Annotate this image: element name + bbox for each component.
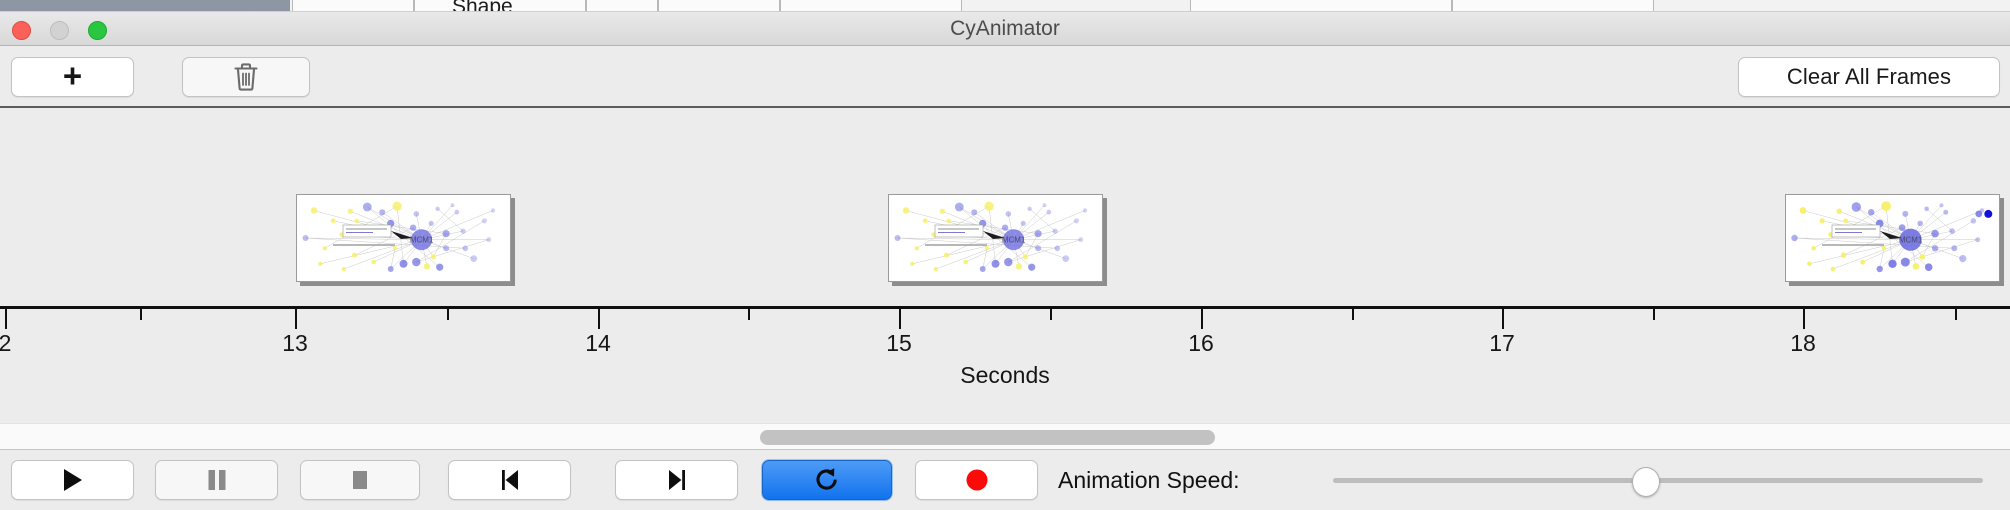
delete-frame-button[interactable]	[182, 57, 310, 97]
axis-tick	[1201, 309, 1203, 329]
animation-speed-label: Animation Speed:	[1058, 460, 1240, 500]
axis-tick	[1653, 309, 1655, 320]
frame-thumbnail[interactable]: MCM1	[1785, 194, 2000, 282]
record-button[interactable]	[915, 460, 1038, 500]
axis-tick	[1502, 309, 1504, 329]
axis-tick-label: 18	[1790, 330, 1816, 357]
stop-button[interactable]	[300, 460, 420, 500]
background-window-strip: Shape	[0, 0, 2010, 12]
network-graph: MCM1	[889, 195, 1102, 281]
pause-button[interactable]	[155, 460, 278, 500]
toolbar: + Clear All Frames	[0, 46, 2010, 108]
timeline-panel[interactable]: MCM1MCM1MCM1 2131415161718 Seconds	[0, 110, 2010, 423]
frame-thumbnail-image: MCM1	[1786, 195, 1999, 281]
frame-thumbnail[interactable]: MCM1	[296, 194, 511, 282]
play-icon	[60, 466, 86, 494]
axis-tick	[1955, 309, 1957, 320]
timeline-axis	[0, 306, 2010, 309]
axis-tick	[598, 309, 600, 329]
skip-to-end-button[interactable]	[615, 460, 738, 500]
title-bar: CyAnimator	[0, 12, 2010, 46]
cyanimator-window: Shape CyAnimator + Clear All Frames	[0, 0, 2010, 510]
clear-all-frames-button[interactable]: Clear All Frames	[1738, 57, 2000, 97]
add-frame-button[interactable]: +	[11, 57, 134, 97]
network-graph: MCM1	[297, 195, 510, 281]
axis-tick	[1050, 309, 1052, 320]
loop-icon	[813, 465, 841, 495]
skip-to-start-icon	[497, 466, 523, 494]
trash-icon	[233, 62, 259, 92]
skip-to-start-button[interactable]	[448, 460, 571, 500]
skip-to-end-icon	[664, 466, 690, 494]
axis-tick-label: 13	[282, 330, 308, 357]
svg-text:MCM1: MCM1	[1002, 236, 1026, 245]
frame-thumbnail[interactable]: MCM1	[888, 194, 1103, 282]
axis-tick	[295, 309, 297, 329]
slider-thumb[interactable]	[1632, 467, 1660, 497]
axis-tick	[140, 309, 142, 320]
timeline-scrollbar-thumb[interactable]	[760, 430, 1215, 445]
axis-tick	[5, 309, 7, 329]
network-graph: MCM1	[1786, 195, 1999, 281]
frame-thumbnail-image: MCM1	[297, 195, 510, 281]
axis-tick-label: 16	[1188, 330, 1214, 357]
axis-tick	[447, 309, 449, 320]
axis-tick-label: 15	[886, 330, 912, 357]
loop-button[interactable]	[762, 460, 892, 500]
axis-tick	[1803, 309, 1805, 329]
axis-tick-label: 17	[1489, 330, 1515, 357]
window-title: CyAnimator	[0, 12, 2010, 46]
playback-control-bar: Animation Speed:	[0, 450, 2010, 510]
axis-tick-label: 14	[585, 330, 611, 357]
record-icon	[964, 467, 990, 493]
axis-title: Seconds	[0, 362, 2010, 389]
pause-icon	[205, 466, 229, 494]
play-button[interactable]	[11, 460, 134, 500]
axis-tick	[899, 309, 901, 329]
axis-tick-label: 2	[0, 330, 11, 357]
animation-speed-slider[interactable]	[1333, 460, 1983, 500]
svg-text:MCM1: MCM1	[410, 236, 434, 245]
axis-tick	[1352, 309, 1354, 320]
axis-tick	[748, 309, 750, 320]
timeline-scrollbar[interactable]	[0, 423, 2010, 450]
plus-icon: +	[63, 59, 82, 92]
svg-text:MCM1: MCM1	[1899, 236, 1923, 245]
stop-icon	[348, 466, 372, 494]
frame-thumbnail-image: MCM1	[889, 195, 1102, 281]
clear-all-frames-label: Clear All Frames	[1787, 64, 1951, 90]
